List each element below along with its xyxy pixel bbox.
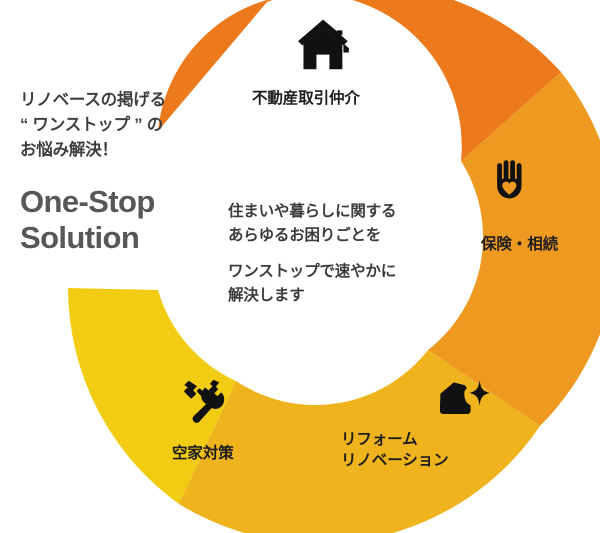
center-copy-line-3: ワンストップで速やかに [228,260,443,284]
segment-label-reform-line-2: リノベーション [341,450,449,471]
lead-line-1: リノベースの掲げる [20,88,235,113]
segment-label-reform[interactable]: リフォーム リノベーション [341,429,449,472]
center-copy-line-1: 住まいや暮らしに関する [228,200,443,224]
segment-label-insurance[interactable]: 保険・相続 [481,234,558,255]
page-title-line-2: Solution [20,220,235,256]
page-title: One-Stop Solution [20,184,235,256]
center-copy-block: 住まいや暮らしに関する あらゆるお困りごとを ワンストップで速やかに 解決します [228,200,443,307]
page-title-line-1: One-Stop [20,184,235,220]
segment-label-vacant-house[interactable]: 空家対策 [172,443,234,464]
lead-line-2: “ ワンストップ ” の [20,113,235,138]
headline-block: リノベースの掲げる “ ワンストップ ” の お悩み解決！ One-Stop S… [20,88,235,256]
infographic-canvas: リノベースの掲げる “ ワンストップ ” の お悩み解決！ One-Stop S… [0,0,600,533]
segment-label-real-estate[interactable]: 不動産取引仲介 [252,88,360,109]
segment-label-reform-line-1: リフォーム [341,429,449,450]
center-copy-line-2: あらゆるお困りごとを [228,224,443,248]
house-icon [298,20,349,70]
center-copy-line-4: 解決します [228,284,443,308]
lead-line-3: お悩み解決！ [20,138,235,163]
